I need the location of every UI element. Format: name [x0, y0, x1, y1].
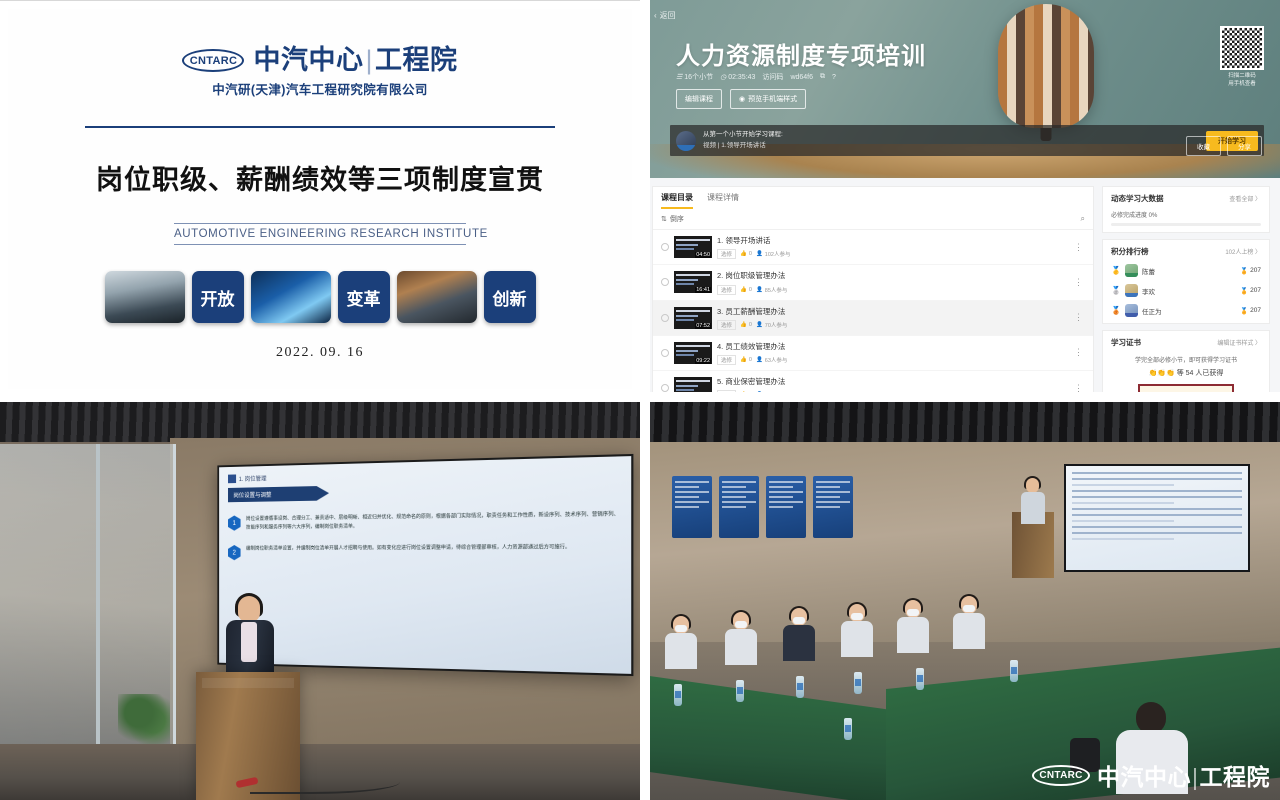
lesson-index: 1. — [717, 236, 723, 245]
hot-air-balloon-image — [998, 4, 1094, 128]
leaderboard-name: 李欢 — [1142, 286, 1155, 296]
preview-mobile-button[interactable]: ◉ 预览手机端样式 — [730, 89, 806, 109]
qr-caption: 扫描二维码 用手机查看 — [1220, 72, 1264, 89]
cntarc-oval-logo-icon: CNTARC — [1032, 765, 1090, 786]
stats-view-all-link[interactable]: 查看全部 〉 — [1229, 194, 1261, 203]
table-row[interactable]: 09:22 4. 员工绩效管理办法 选修 👍 0 👤 63人参与 ⋮ — [653, 336, 1093, 371]
bronze-medal-icon: 🥉 — [1111, 306, 1121, 315]
bullet-text-2: 编制岗位职务清单设置，并编制岗位清单开展人才招聘与使用。如有变化应进行岗位设置调… — [246, 543, 570, 553]
company-logo: CNTARC 中汽中心|工程院 中汽研(天津)汽车工程研究院有限公司 — [182, 47, 457, 98]
tab-detail[interactable]: 课程详情 — [707, 192, 739, 209]
slide-subsection-tag: 岗位设置与调整 — [228, 486, 329, 502]
sort-label: 倒序 — [670, 214, 684, 224]
share-button[interactable]: 分享 — [1227, 136, 1262, 156]
required-progress-bar — [1111, 223, 1261, 226]
lesson-chip: 选修 — [717, 320, 736, 330]
lesson-more-icon[interactable]: ⋮ — [1071, 277, 1085, 288]
resume-line2: 视频 | 1.领导开场讲话 — [703, 141, 783, 151]
learning-stats-card: 动态学习大数据 查看全部 〉 必修完成进度 0% — [1102, 186, 1270, 233]
presentation-screen: 1. 岗位管理 岗位设置与调整 1 岗位设置遵循事设岗、合理分工、兼责适中、层级… — [217, 454, 633, 676]
lesson-stats: 选修 👍 0 👤 85人参与 — [717, 285, 1066, 295]
sort-bar: ⇅ 倒序 ⌕ — [653, 209, 1093, 230]
presenter-head — [238, 596, 260, 622]
lesson-duration: 16:41 — [695, 287, 711, 293]
meta-duration-text: 02:35:43 — [728, 74, 755, 81]
bullet-number-1: 1 — [228, 515, 241, 530]
qr-code-block: 扫描二维码 用手机查看 — [1220, 26, 1264, 89]
slide-bullet: 2 编制岗位职务清单设置，并编制岗位清单开展人才招聘与使用。如有变化应进行岗位设… — [228, 543, 620, 560]
clock-icon: ◷ — [720, 73, 726, 81]
preview-mobile-label: 预览手机端样式 — [748, 94, 797, 104]
leaderboard-name: 任正为 — [1142, 306, 1162, 316]
lesson-more-icon[interactable]: ⋮ — [1071, 242, 1085, 253]
logo-subtitle: 中汽研(天津)汽车工程研究院有限公司 — [182, 79, 457, 98]
attendee-figure — [664, 616, 698, 668]
avatar — [1125, 284, 1138, 297]
avatar — [1125, 304, 1138, 317]
slide-header-text: 1. 岗位管理 — [239, 474, 267, 483]
lesson-thumbnail: 07:52 — [674, 307, 712, 329]
lesson-name: 商业保密管理办法 — [725, 377, 785, 386]
list-item[interactable]: 🥉 任正为 🏅207 — [1111, 304, 1261, 317]
gold-medal-icon: 🥇 — [1111, 266, 1121, 275]
attendee-figure — [840, 604, 874, 656]
table-row[interactable]: 16:41 2. 岗位职级管理办法 选修 👍 0 👤 85人参与 ⋮ — [653, 265, 1093, 300]
lesson-participants: 👤 70人参与 — [756, 321, 787, 329]
lesson-select-radio[interactable] — [661, 349, 669, 357]
lesson-chip: 选修 — [717, 285, 736, 295]
lesson-title: 1. 领导开场讲话 — [717, 235, 1066, 246]
lesson-index: 5. — [717, 377, 723, 386]
lesson-more-icon[interactable]: ⋮ — [1071, 347, 1085, 358]
lesson-thumbnail: 04:50 — [674, 236, 712, 258]
leaderboard-points: 🏅207 — [1240, 287, 1261, 295]
silver-medal-icon: 🥈 — [1111, 286, 1121, 295]
lesson-name: 岗位职级管理办法 — [725, 271, 785, 280]
hero-actions: 收藏 分享 — [1186, 136, 1262, 156]
cntarc-oval-logo-icon: CNTARC — [182, 49, 244, 72]
certificate-header: 学习证书 编辑证书样式 〉 — [1111, 337, 1261, 348]
meta-sections: ☰16个小节 — [676, 72, 713, 82]
lesson-participants: 👤 102人参与 — [756, 250, 791, 258]
catalog-panel: 课程目录 课程详情 ⇅ 倒序 ⌕ 04:50 — [652, 186, 1094, 398]
course-meta: ☰16个小节 ◷02:35:43 访问码 wd64f6 ⧉ ? — [676, 72, 836, 82]
meta-access-code-value: wd64f6 — [790, 74, 813, 81]
potted-plant — [118, 694, 170, 748]
english-subtitle: AUTOMOTIVE ENGINEERING RESEARCH INSTITUT… — [174, 224, 466, 244]
audience-photo: CNTARC 中汽中心|工程院 — [640, 398, 1280, 800]
slide-bullet: 1 岗位设置遵循事设岗、合理分工、兼责适中、层级明晰、相近归并优化、规范命名的原… — [228, 510, 620, 532]
resume-text: 从第一个小节开始学习课程: 视频 | 1.领导开场讲话 — [703, 130, 783, 150]
lesson-select-radio[interactable] — [661, 314, 669, 322]
lesson-likes: 👍 0 — [740, 357, 752, 363]
watermark-name: 中汽中心|工程院 — [1097, 758, 1270, 792]
presenter-shirt — [241, 622, 257, 662]
water-bottle — [844, 718, 852, 740]
lesson-select-radio[interactable] — [661, 243, 669, 251]
lesson-index: 4. — [717, 342, 723, 351]
wall-poster — [766, 476, 806, 538]
slide-date: 2022. 09. 16 — [276, 345, 364, 361]
tile-word-innovation: 创新 — [484, 271, 536, 323]
list-item[interactable]: 🥇 陈蕾 🏅207 — [1111, 264, 1261, 277]
course-platform-screenshot: ‹ 返回 人力资源制度专项培训 ☰16个小节 ◷02:35:43 访问码 wd6… — [640, 0, 1280, 398]
slide-section-header: 1. 岗位管理 — [228, 465, 620, 483]
lesson-duration: 09:22 — [695, 358, 711, 364]
leaderboard-name: 陈蕾 — [1142, 266, 1155, 276]
watermark-name-part2: 工程院 — [1200, 764, 1271, 790]
lesson-select-radio[interactable] — [661, 384, 669, 392]
logo-name-part1: 中汽中心 — [253, 45, 363, 75]
edit-certificate-link[interactable]: 编辑证书样式 〉 — [1217, 338, 1261, 347]
lesson-title: 2. 岗位职级管理办法 — [717, 270, 1066, 281]
water-bottle — [854, 672, 862, 694]
lesson-stats: 选修 👍 0 👤 102人参与 — [717, 249, 1066, 259]
lesson-duration: 04:50 — [695, 252, 711, 258]
clap-icon: 👏👏👏 — [1149, 370, 1175, 377]
qr-caption-line1: 扫描二维码 — [1220, 72, 1264, 80]
lesson-more-icon[interactable]: ⋮ — [1071, 312, 1085, 323]
certificate-earned-count: 等 54 人已获得 — [1177, 370, 1224, 377]
lesson-info: 1. 领导开场讲话 选修 👍 0 👤 102人参与 — [717, 235, 1066, 259]
attendee-figure — [896, 600, 930, 652]
hero-button-group: 编辑课程 ◉ 预览手机端样式 — [676, 89, 806, 109]
course-body: 课程目录 课程详情 ⇅ 倒序 ⌕ 04:50 — [640, 178, 1280, 398]
wall-poster — [813, 476, 853, 538]
favorite-button[interactable]: 收藏 — [1186, 136, 1221, 156]
lesson-likes: 👍 0 — [740, 251, 752, 257]
sort-toggle[interactable]: ⇅ 倒序 — [661, 214, 684, 224]
lesson-info: 3. 员工薪酬管理办法 选修 👍 0 👤 70人参与 — [717, 306, 1066, 330]
wall-poster-panels — [672, 476, 853, 538]
chevron-left-icon: ‹ — [654, 11, 657, 20]
lesson-title: 4. 员工绩效管理办法 — [717, 341, 1066, 352]
back-button[interactable]: ‹ 返回 — [654, 10, 676, 21]
lesson-participants: 👤 63人参与 — [756, 356, 787, 364]
attendee-figure — [782, 608, 816, 660]
qr-code-icon — [1220, 26, 1264, 70]
lesson-stats: 选修 👍 0 👤 63人参与 — [717, 355, 1066, 365]
eye-icon: ◉ — [739, 95, 745, 103]
presentation-screen — [1064, 464, 1250, 572]
leaderboard-title: 积分排行榜 — [1111, 246, 1149, 257]
lesson-index: 2. — [717, 271, 723, 280]
tile-image-mountain-road — [397, 271, 477, 323]
help-icon[interactable]: ? — [832, 74, 836, 81]
water-bottle — [916, 668, 924, 690]
lesson-chip: 选修 — [717, 249, 736, 259]
certificate-title: 学习证书 — [1111, 337, 1141, 348]
watermark-name-part1: 中汽中心 — [1097, 764, 1191, 790]
lesson-stats: 选修 👍 0 👤 70人参与 — [717, 320, 1066, 330]
tile-image-test-track — [105, 271, 185, 323]
speaker-head — [1026, 478, 1039, 493]
bullet-number-2: 2 — [228, 545, 241, 560]
meta-access-code-label: 访问码 — [762, 72, 783, 82]
list-icon: ☰ — [676, 73, 682, 81]
lesson-info: 4. 员工绩效管理办法 选修 👍 0 👤 63人参与 — [717, 341, 1066, 365]
lesson-chip: 选修 — [717, 355, 736, 365]
copy-icon[interactable]: ⧉ — [820, 73, 825, 81]
certificate-hint: 学完全部必修小节，即可获得学习证书 — [1111, 355, 1261, 364]
lesson-thumbnail — [676, 131, 696, 151]
lesson-participants: 👤 85人参与 — [756, 286, 787, 294]
water-bottle — [736, 680, 744, 702]
leaderboard-card: 积分排行榜 102人上榜 〉 🥇 陈蕾 🏅207 🥈 李欢 🏅207 — [1102, 239, 1270, 324]
resume-line1: 从第一个小节开始学习课程: — [703, 130, 783, 140]
table-row[interactable]: 07:52 3. 员工薪酬管理办法 选修 👍 0 👤 70人参与 ⋮ — [653, 301, 1093, 336]
tile-image-ev-tech — [251, 271, 331, 323]
required-progress-label: 必修完成进度 0% — [1111, 210, 1261, 219]
certificate-card: 学习证书 编辑证书样式 〉 学完全部必修小节，即可获得学习证书 👏👏👏 等 54… — [1102, 330, 1270, 398]
wall-poster — [719, 476, 759, 538]
list-item[interactable]: 🥈 李欢 🏅207 — [1111, 284, 1261, 297]
lesson-name: 员工薪酬管理办法 — [725, 307, 785, 316]
resume-learning-bar: 从第一个小节开始学习课程: 视频 | 1.领导开场讲话 开始学习 — [670, 125, 1264, 156]
lesson-list: 04:50 1. 领导开场讲话 选修 👍 0 👤 102人参与 ⋮ — [653, 230, 1093, 398]
ceiling-slats — [640, 398, 1280, 446]
bullet-text-1: 岗位设置遵循事设岗、合理分工、兼责适中、层级明晰、相近归并优化、规范命名的原则，… — [246, 510, 620, 531]
edit-course-button[interactable]: 编辑课程 — [676, 89, 722, 109]
meta-sections-text: 16个小节 — [684, 72, 713, 82]
collage-horizontal-gutter — [0, 392, 1280, 402]
attendee-figure — [724, 612, 758, 664]
ceiling-slats — [0, 398, 640, 442]
course-hero-banner: ‹ 返回 人力资源制度专项培训 ☰16个小节 ◷02:35:43 访问码 wd6… — [640, 0, 1280, 178]
back-label: 返回 — [660, 10, 676, 21]
lesson-likes: 👍 0 — [740, 287, 752, 293]
leaderboard-points: 🏅207 — [1240, 267, 1261, 275]
presenter-photo: 1. 岗位管理 岗位设置与调整 1 岗位设置遵循事设岗、合理分工、兼责适中、层级… — [0, 398, 640, 800]
lesson-info: 2. 岗位职级管理办法 选修 👍 0 👤 85人参与 — [717, 270, 1066, 294]
qr-caption-line2: 用手机查看 — [1220, 80, 1264, 88]
attendee-figure — [952, 596, 986, 648]
lesson-likes: 👍 0 — [740, 322, 752, 328]
meta-duration: ◷02:35:43 — [720, 73, 755, 81]
catalog-tabs: 课程目录 课程详情 — [653, 187, 1093, 209]
certificate-earned-row: 👏👏👏 等 54 人已获得 — [1111, 368, 1261, 378]
lesson-select-radio[interactable] — [661, 278, 669, 286]
slide-header-swatch-icon — [228, 474, 236, 483]
lesson-duration: 07:52 — [695, 323, 711, 329]
lesson-title: 5. 商业保密管理办法 — [717, 376, 1066, 387]
divider-rule — [85, 126, 555, 128]
leaderboard-count-link[interactable]: 102人上榜 〉 — [1225, 247, 1261, 256]
lesson-thumbnail: 16:41 — [674, 271, 712, 293]
table-row[interactable]: 04:50 1. 领导开场讲话 选修 👍 0 👤 102人参与 ⋮ — [653, 230, 1093, 265]
sort-icon: ⇅ — [661, 215, 667, 223]
water-bottle — [1010, 660, 1018, 682]
presenter-figure — [222, 596, 278, 682]
water-bottle — [796, 676, 804, 698]
course-sidebar: 动态学习大数据 查看全部 〉 必修完成进度 0% 积分排行榜 102人上榜 〉 … — [1102, 186, 1270, 398]
tile-word-change: 变革 — [338, 271, 390, 323]
slide-title: 岗位职级、薪酬绩效等三项制度宣贯 — [96, 158, 544, 197]
keyword-tiles: 开放 变革 创新 — [105, 271, 536, 323]
english-subtitle-band: AUTOMOTIVE ENGINEERING RESEARCH INSTITUT… — [174, 223, 466, 245]
lesson-thumbnail: 09:22 — [674, 342, 712, 364]
speaker-figure — [1020, 478, 1046, 522]
logo-name-part2: 工程院 — [375, 45, 458, 75]
wall-poster — [672, 476, 712, 538]
band-line-bottom — [174, 244, 466, 245]
logo-chinese-name: 中汽中心|工程院 — [253, 47, 457, 74]
tab-catalog[interactable]: 课程目录 — [661, 192, 693, 209]
leaderboard-header: 积分排行榜 102人上榜 〉 — [1111, 246, 1261, 257]
title-slide: CNTARC 中汽中心|工程院 中汽研(天津)汽车工程研究院有限公司 岗位职级、… — [0, 0, 640, 398]
tile-word-open: 开放 — [192, 271, 244, 323]
lesson-name: 领导开场讲话 — [725, 236, 770, 245]
lesson-title: 3. 员工薪酬管理办法 — [717, 306, 1066, 317]
water-bottle — [674, 684, 682, 706]
leaderboard-points: 🏅207 — [1240, 307, 1261, 315]
lesson-index: 3. — [717, 307, 723, 316]
course-title: 人力资源制度专项培训 — [676, 36, 926, 71]
avatar — [1125, 264, 1138, 277]
edit-course-label: 编辑课程 — [685, 94, 713, 104]
search-icon[interactable]: ⌕ — [1081, 214, 1085, 224]
course-content-column: 课程目录 课程详情 ⇅ 倒序 ⌕ 04:50 — [652, 186, 1094, 398]
speaker-body — [1021, 492, 1045, 524]
lesson-name: 员工绩效管理办法 — [725, 342, 785, 351]
stats-card-title: 动态学习大数据 — [1111, 193, 1164, 204]
stats-card-header: 动态学习大数据 查看全部 〉 — [1111, 193, 1261, 204]
watermark-logo: CNTARC 中汽中心|工程院 — [1032, 758, 1270, 792]
